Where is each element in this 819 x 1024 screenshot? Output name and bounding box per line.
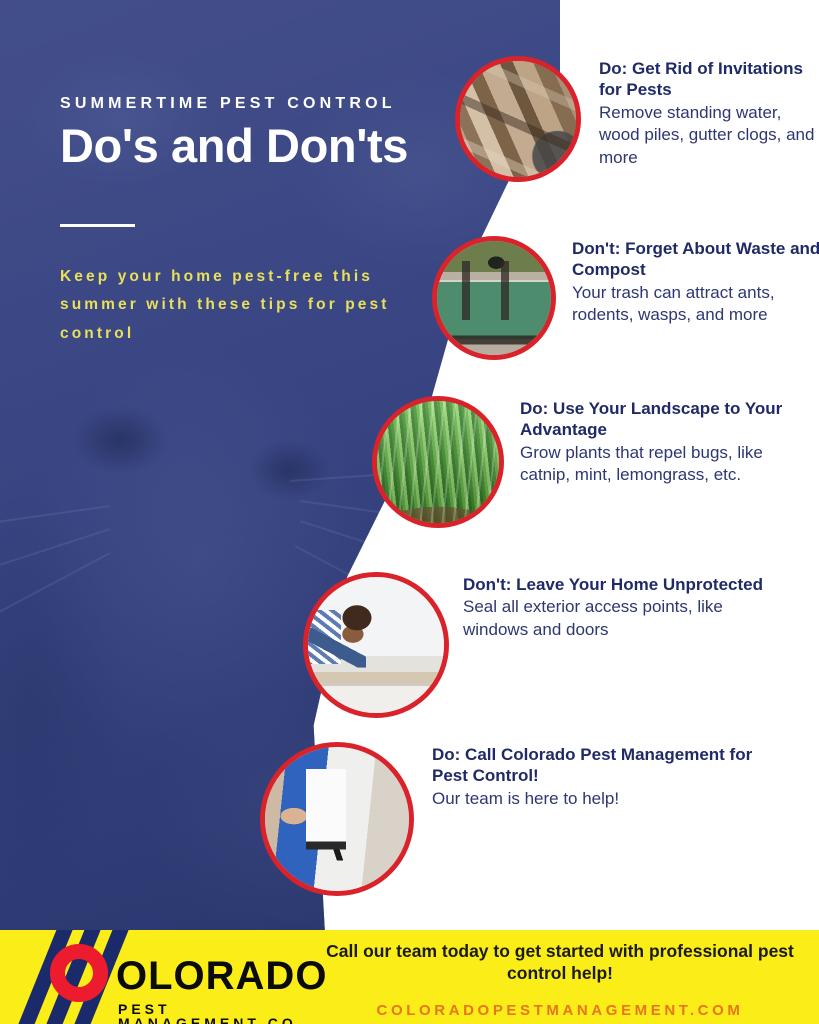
window-caulking-photo-icon <box>303 572 449 718</box>
lemongrass-photo-icon <box>372 396 504 528</box>
tip-title-4: Don't: Leave Your Home Unprotected <box>463 574 763 595</box>
logo-red-c-icon <box>50 944 108 1002</box>
tip-title-5: Do: Call Colorado Pest Management for Pe… <box>432 744 762 787</box>
tip-body-5: Our team is here to help! <box>432 788 762 811</box>
infographic-poster: SUMMERTIME PEST CONTROL Do's and Don'ts … <box>0 0 819 1024</box>
tips-list: Do: Get Rid of Invitations for Pests Rem… <box>0 0 819 930</box>
pest-sprayer-photo-icon <box>260 742 414 896</box>
logo-tagline: PEST MANAGEMENT CO <box>118 1002 318 1024</box>
waste-bins-photo-icon <box>432 236 556 360</box>
tip-text-2: Don't: Forget About Waste and Compost Yo… <box>572 236 819 327</box>
tip-body-4: Seal all exterior access points, like wi… <box>463 596 763 641</box>
tip-title-1: Do: Get Rid of Invitations for Pests <box>599 58 819 101</box>
tip-text-5: Do: Call Colorado Pest Management for Pe… <box>432 742 762 810</box>
tip-item-4: Don't: Leave Your Home Unprotected Seal … <box>303 572 763 718</box>
tip-item-2: Don't: Forget About Waste and Compost Yo… <box>432 236 819 360</box>
colorado-pest-management-logo[interactable]: OLORADO PEST MANAGEMENT CO <box>18 932 318 1024</box>
footer-website-url[interactable]: COLORADOPESTMANAGEMENT.COM <box>310 1002 810 1019</box>
footer-bar: OLORADO PEST MANAGEMENT CO Call our team… <box>0 930 819 1024</box>
tip-title-2: Don't: Forget About Waste and Compost <box>572 238 819 281</box>
tip-item-1: Do: Get Rid of Invitations for Pests Rem… <box>455 56 819 182</box>
tip-text-3: Do: Use Your Landscape to Your Advantage… <box>520 396 798 487</box>
tip-item-5: Do: Call Colorado Pest Management for Pe… <box>260 742 762 896</box>
tip-text-4: Don't: Leave Your Home Unprotected Seal … <box>463 572 763 641</box>
tip-body-1: Remove standing water, wood piles, gutte… <box>599 102 819 170</box>
wood-pile-photo-icon <box>455 56 581 182</box>
tip-body-3: Grow plants that repel bugs, like catnip… <box>520 442 798 487</box>
tip-text-1: Do: Get Rid of Invitations for Pests Rem… <box>599 56 819 169</box>
tip-body-2: Your trash can attract ants, rodents, wa… <box>572 282 819 327</box>
logo-wordmark: OLORADO <box>116 956 327 996</box>
tip-title-3: Do: Use Your Landscape to Your Advantage <box>520 398 798 441</box>
tip-item-3: Do: Use Your Landscape to Your Advantage… <box>372 396 798 528</box>
footer-call-to-action: Call our team today to get started with … <box>310 941 810 984</box>
